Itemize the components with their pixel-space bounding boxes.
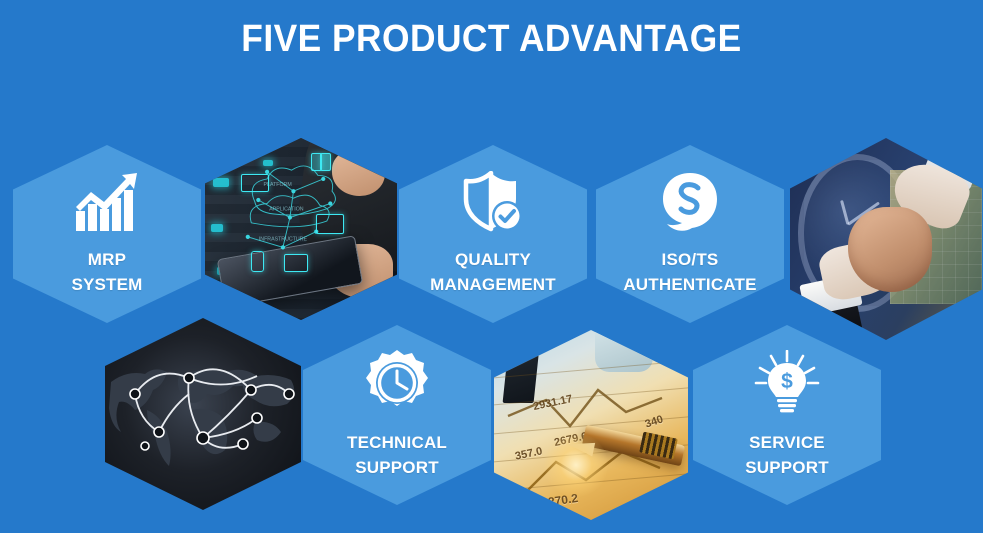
lightbulb-dollar-icon: $ — [751, 350, 823, 421]
quality-management-content: QUALITY MANAGEMENT — [399, 145, 587, 323]
shield-check-icon — [461, 171, 525, 238]
label-line-2: MANAGEMENT — [430, 273, 556, 298]
label-line-2: SUPPORT — [347, 456, 447, 481]
feature-hex-iso-ts-authenticate[interactable]: ISO/TS AUTHENTICATE — [596, 145, 784, 323]
feature-hex-service-support[interactable]: $ SERVICE SUPPORT — [693, 325, 881, 505]
feature-label-service-support: SERVICE SUPPORT — [745, 431, 829, 480]
five-product-advantage-banner: FIVE PRODUCT ADVANTAGE MRP SY — [0, 0, 983, 533]
global-network-map-photo — [105, 318, 301, 510]
label-line-2: SYSTEM — [71, 273, 142, 298]
label-line-1: TECHNICAL — [347, 431, 447, 456]
financial-chart-pen-photo: 2931.17 2679.68 357.0 270.2 340 — [494, 330, 688, 520]
gear-clock-icon — [364, 350, 430, 421]
svg-text:$: $ — [781, 370, 793, 393]
iso-ts-authenticate-content: ISO/TS AUTHENTICATE — [596, 145, 784, 323]
handshake-clock-map-photo — [790, 138, 982, 340]
feature-hex-quality-management[interactable]: QUALITY MANAGEMENT — [399, 145, 587, 323]
mrp-system-content: MRP SYSTEM — [13, 145, 201, 323]
cloud-network-tablet-photo: PLATFORM APPLICATION INFRASTRUCTURE — [205, 138, 397, 320]
photo-hex-world-map[interactable] — [105, 318, 301, 510]
photo-hex-handshake[interactable] — [790, 138, 982, 340]
label-line-2: AUTHENTICATE — [623, 273, 756, 298]
label-line-1: ISO/TS — [623, 248, 756, 273]
label-line-2: SUPPORT — [745, 456, 829, 481]
feature-hex-mrp-system[interactable]: MRP SYSTEM — [13, 145, 201, 323]
feature-hex-technical-support[interactable]: TECHNICAL SUPPORT — [303, 325, 491, 505]
photo-hex-finance-chart[interactable]: 2931.17 2679.68 357.0 270.2 340 — [494, 330, 688, 520]
sgs-quality-seal-icon — [660, 171, 720, 238]
feature-label-iso-ts-authenticate: ISO/TS AUTHENTICATE — [623, 248, 756, 297]
bar-chart-growth-arrow-icon — [74, 171, 140, 238]
label-line-1: QUALITY — [430, 248, 556, 273]
svg-text:INFRASTRUCTURE: INFRASTRUCTURE — [259, 237, 308, 243]
svg-text:APPLICATION: APPLICATION — [269, 207, 304, 213]
photo-hex-server-tablet[interactable]: PLATFORM APPLICATION INFRASTRUCTURE — [205, 138, 397, 320]
feature-label-technical-support: TECHNICAL SUPPORT — [347, 431, 447, 480]
page-title: FIVE PRODUCT ADVANTAGE — [34, 18, 948, 61]
feature-label-quality-management: QUALITY MANAGEMENT — [430, 248, 556, 297]
label-line-1: MRP — [71, 248, 142, 273]
label-line-1: SERVICE — [745, 431, 829, 456]
feature-label-mrp-system: MRP SYSTEM — [71, 248, 142, 297]
technical-support-content: TECHNICAL SUPPORT — [303, 325, 491, 505]
service-support-content: $ SERVICE SUPPORT — [693, 325, 881, 505]
